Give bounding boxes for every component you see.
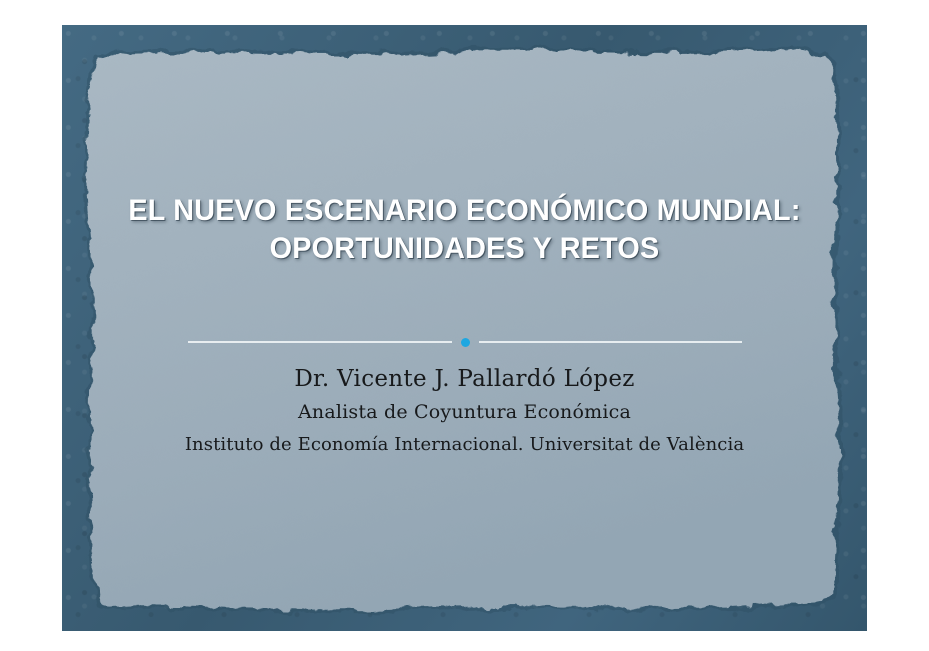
divider-rule-left [188,341,452,343]
divider-rule-right [479,341,743,343]
presenter-role: Analista de Coyuntura Económica [62,396,867,429]
presenter-affiliation: Instituto de Economía Internacional. Uni… [62,429,867,461]
slide-content: EL NUEVO ESCENARIO ECONÓMICO MUNDIAL: OP… [62,25,867,631]
bullet-dot-icon [461,338,470,347]
subtitle-block: Dr. Vicente J. Pallardó López Analista d… [62,362,867,461]
title-line-1: EL NUEVO ESCENARIO ECONÓMICO MUNDIAL: [117,192,813,230]
page-title: EL NUEVO ESCENARIO ECONÓMICO MUNDIAL: OP… [62,192,867,268]
divider [188,335,742,349]
title-line-2: OPORTUNIDADES Y RETOS [117,230,813,268]
slide-torn-frame: EL NUEVO ESCENARIO ECONÓMICO MUNDIAL: OP… [62,25,867,631]
slide-canvas: EL NUEVO ESCENARIO ECONÓMICO MUNDIAL: OP… [0,0,929,651]
presenter-name: Dr. Vicente J. Pallardó López [62,362,867,396]
